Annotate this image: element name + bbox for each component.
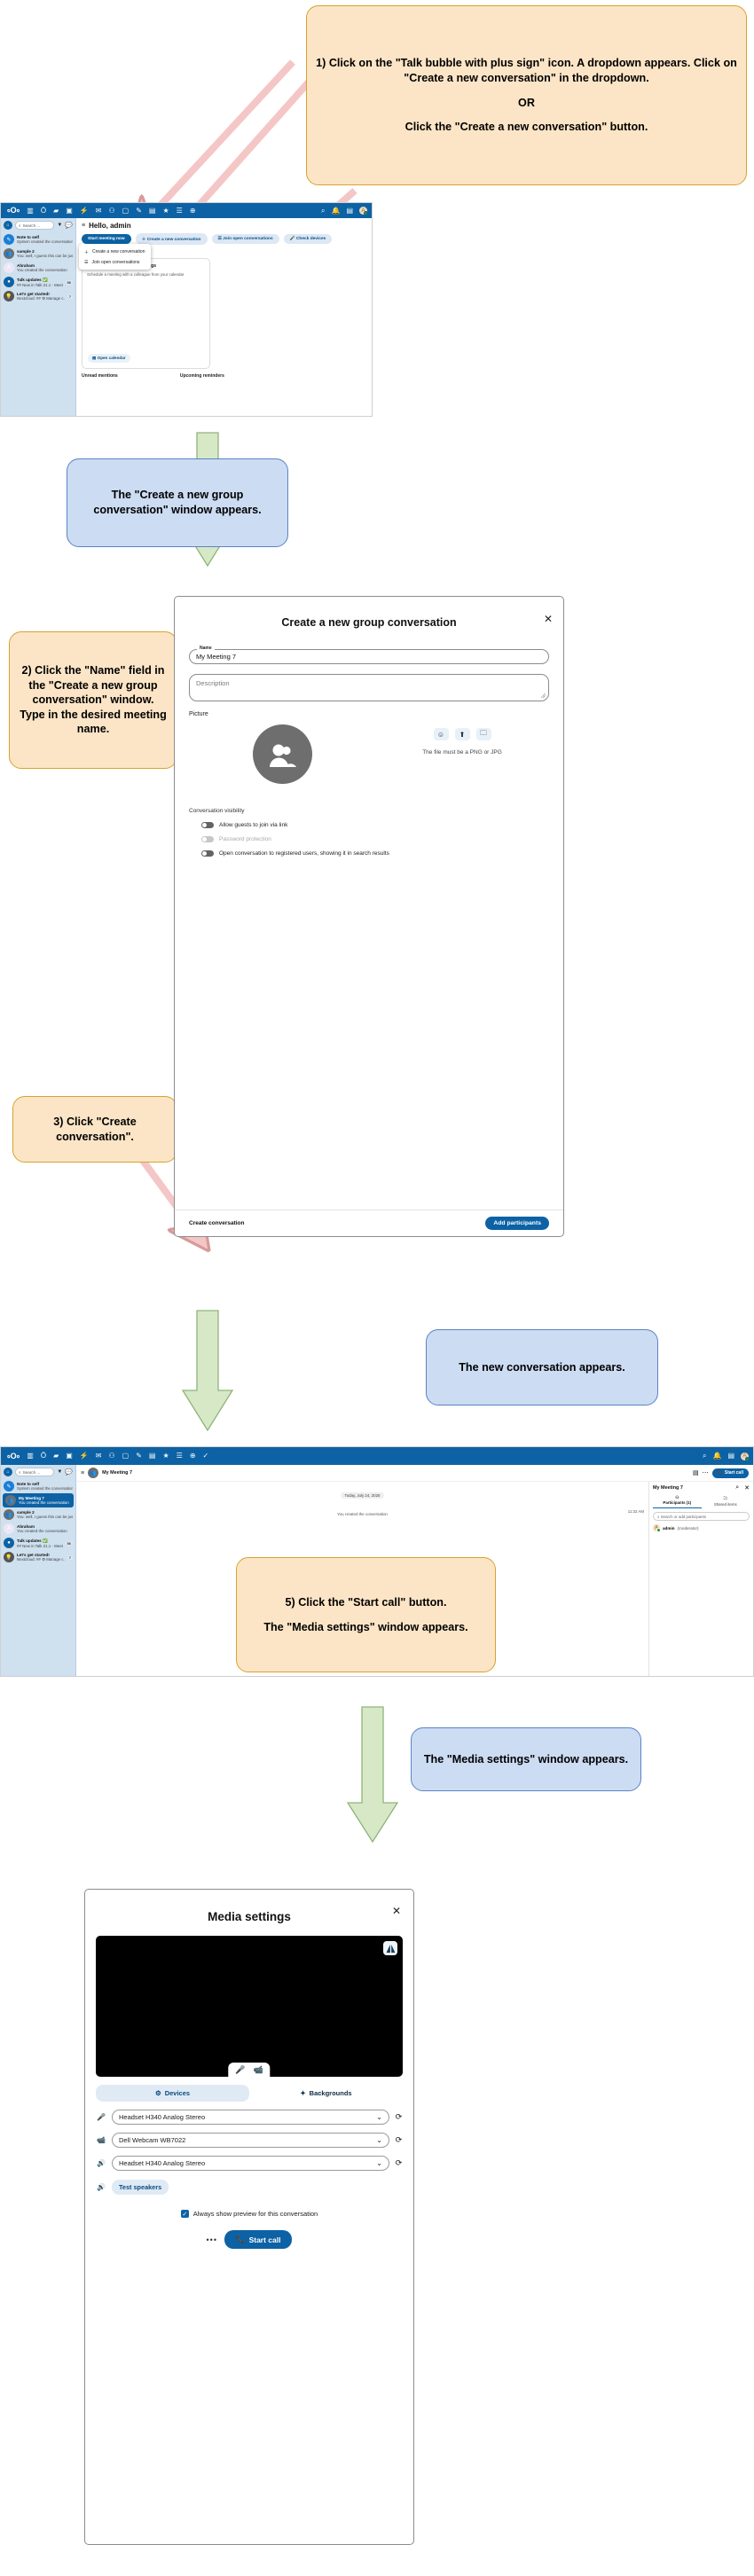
callout-step-1-line1: 1) Click on the "Talk bubble with plus s… [316,56,737,85]
conversation-subtitle: System created the conversation [17,1486,73,1491]
more-options-icon[interactable]: ••• [207,2235,217,2244]
conversation-text: AbrahamYou created the conversation [17,263,67,272]
dropdown-item-create-conversation[interactable]: ＋ Create a new conversation [79,247,151,257]
unread-badge: 7 [67,294,73,299]
description-field-wrapper: Description [189,674,549,701]
callout-step-3-text: 3) Click "Create conversation". [22,1115,168,1144]
conversation-list-item[interactable]: 💡Let's get started!Nextcloud: ## ⚙ Manag… [1,1550,75,1564]
dropdown-item-create-conversation-label: Create a new conversation [92,249,145,254]
conversation-avatar: A [4,262,14,273]
tab-backgrounds-label: Backgrounds [310,2089,352,2097]
calendar-icon[interactable]: ▢ [122,1452,130,1460]
conversation-avatar: 👥 [4,248,14,259]
device-select[interactable]: Headset H340 Analog Stereo⌄ [112,2156,389,2171]
tab-devices[interactable]: ⚙ Devices [96,2085,249,2102]
callout-step-1-or: OR [316,96,737,111]
talk-icon[interactable]: Ō [41,1452,46,1460]
test-speakers-row: 🔊 Test speakers [96,2180,403,2195]
search-icon: ⌕ [657,1515,659,1519]
conversation-avatar-icon: 👥 [88,1468,98,1478]
callout-step-2-text: 2) Click the "Name" field in the "Create… [19,663,168,737]
search-icon: ⌕ [19,223,21,228]
date-separator: Today, July 24, 2025 [341,1492,385,1499]
conversation-avatar: A [4,1523,14,1534]
refresh-icon[interactable]: ⟳ [395,2158,403,2168]
visibility-toggle-row[interactable]: Allow guests to join via link [201,822,549,828]
participant-avatar: A [653,1524,660,1531]
conversation-text: sample 2You: well, I guess this can be j… [17,1510,73,1519]
dialog-title: Create a new group conversation [175,616,563,629]
toggle-label: Open conversation to registered users, s… [219,850,389,857]
microphone-icon: 🎤 [96,2113,106,2121]
conversation-list-item[interactable]: ●Talk updates ✅## New in Talk 21.1 - Mee… [1,1536,75,1550]
picture-label: Picture [189,711,549,717]
system-message: You created the conversation [337,1512,388,1516]
conversation-list-item[interactable]: 💡Let's get started!Nextcloud: ## ⚙ Manag… [1,289,75,303]
toggle-label: Password protection [219,836,271,842]
conversation-subtitle: Nextcloud: ## ⚙ Manage c... [17,1557,65,1562]
folder-icon: 🗀 [702,1495,750,1502]
callout-step-3: 3) Click "Create conversation". [12,1096,177,1163]
media-settings-footer: ••• 📞 Start call [85,2230,413,2249]
visibility-toggle-row[interactable]: Password protection [201,836,549,842]
av-toggle-group: 🎤 📹 [228,2063,270,2078]
search-icon[interactable]: ⌕ [735,1484,739,1492]
conversation-list-item[interactable]: 👥sample 2You: well, I guess this can be … [1,247,75,261]
callout-step-1-line2: Click the "Create a new conversation" bu… [316,120,737,135]
conversation-text: Talk updates ✅## New in Talk 21.1 - Meet… [17,1539,63,1548]
device-select[interactable]: Dell Webcam WB7022⌄ [112,2133,389,2148]
picture-row: ☺ ⬆ 🗀 The file must be a PNG or JPG [189,724,549,784]
name-input[interactable]: My Meeting 7 [189,649,549,664]
upcoming-reminders-heading: Upcoming reminders [180,373,224,379]
unread-badge: 7 [67,1555,73,1560]
avatar[interactable]: A [359,207,367,215]
visibility-toggle-list: Allow guests to join via linkPassword pr… [175,822,563,857]
filter-icon[interactable]: ▼ [57,1469,62,1475]
create-group-conversation-dialog: Create a new group conversation ✕ Name M… [174,596,564,1237]
dropdown-item-join-open-conversations-label: Join open conversations [91,260,139,265]
conversation-avatar: ✎ [4,234,14,245]
conversation-subtitle: ## New in Talk 21.1 - Meeti... [17,1544,63,1548]
notifications-icon[interactable]: 🔔 [712,1452,721,1460]
flow-arrow-2 [181,1311,234,1435]
tasks-check-icon[interactable]: ✓ [203,1452,209,1460]
close-icon[interactable]: ✕ [744,1484,750,1492]
toggle-switch[interactable] [201,822,214,828]
notes-icon[interactable]: ✎ [136,207,142,215]
search-placeholder: Search ... [23,223,41,228]
speaker-icon: 🔊 [96,2183,106,2191]
gear-icon: ⚙ [155,2089,161,2097]
add-participants-button[interactable]: Add participants [485,1217,549,1230]
conversation-avatar: 💡 [4,1552,14,1562]
device-select-value: Dell Webcam WB7022 [119,2136,185,2144]
unread-mentions-heading: Unread mentions [82,373,118,379]
conversation-subtitle: ## New in Talk 21.1 - Meeti... [17,283,63,287]
nextcloud-top-bar-2: ∘O∘ ▥ Ō ▰ ▣ ⚡ ✉ ⚇ ▢ ✎ ▤ ★ ☰ ⊕ ✓ ⌕ 🔔 ▤ A [1,1447,753,1465]
favorites-icon[interactable]: ★ [162,207,169,215]
media-settings-tabs: ⚙ Devices ✦ Backgrounds [96,2085,403,2102]
conversation-avatar: 💡 [4,291,14,301]
calendar-icon[interactable]: ▤ [693,1469,699,1476]
activity-icon[interactable]: ⚡ [80,207,89,215]
new-conversation-dropdown: ＋ Create a new conversation ☰ Join open … [79,244,151,270]
refresh-icon[interactable]: ⟳ [395,2135,403,2145]
callout-step-5-line2: The "Media settings" window appears. [263,1620,467,1635]
chevron-down-icon: ⌄ [376,2136,382,2144]
plus-icon: ＋ [84,249,89,255]
search-input[interactable]: ⌕ Search ... [15,221,54,230]
collapse-sidebar-icon[interactable]: ≡ [82,223,85,229]
nextcloud-top-bar: ∘O∘ ▥ Ō ▰ ▣ ⚡ ✉ ⚇ ▢ ✎ ▤ ★ ☰ ⊕ ⌕ 🔔 ▤ A [1,203,372,218]
refresh-icon[interactable]: ⟳ [395,2112,403,2122]
close-icon[interactable]: ✕ [392,1905,401,1917]
nextcloud-logo-icon[interactable]: ∘O∘ [6,206,20,215]
speaker-icon: 🔊 [96,2159,106,2167]
calendar-icon: ▤ [92,356,96,360]
device-row: 🔊Headset H340 Analog Stereo⌄⟳ [96,2156,403,2171]
contacts-menu-icon[interactable]: ▤ [346,207,353,215]
conversation-list: ✎Note to selfSystem created the conversa… [1,232,75,303]
unread-badge: 56 [66,280,73,285]
deck-icon[interactable]: ▤ [149,1452,156,1460]
conversation-list-item[interactable]: 👥My Meeting 7You created the conversatio… [3,1493,74,1507]
favorites-icon[interactable]: ★ [162,1452,169,1460]
card-text: Schedule a meeting with a colleague from… [87,272,205,278]
start-call-button[interactable]: 📞 Start call [712,1468,749,1478]
participant-name: admin [663,1526,675,1531]
unread-badge: 56 [66,1541,73,1546]
photos-icon[interactable]: ▣ [66,207,73,215]
conversation-text: Note to selfSystem created the conversat… [17,235,73,244]
description-textarea[interactable]: Description [189,674,549,701]
always-show-preview-label: Always show preview for this conversatio… [193,2210,318,2218]
conversation-list-item[interactable]: ✎Note to selfSystem created the conversa… [1,232,75,247]
more-options-icon[interactable]: ⋯ [703,1469,709,1476]
always-show-preview-row[interactable]: ✓ Always show preview for this conversat… [85,2210,413,2218]
conversation-text: Talk updates ✅## New in Talk 21.1 - Meet… [17,278,63,287]
mail-icon[interactable]: ✉ [96,1452,102,1460]
callout-step-5: 5) Click the "Start call" button. The "M… [236,1557,496,1672]
conversation-subtitle: You created the conversation [19,1500,69,1505]
notifications-icon[interactable]: 🔔 [331,207,340,215]
conversation-text: AbrahamYou created the conversation [17,1524,67,1533]
conversation-sidebar: ⌂ ⌕ Search ... ▼ 💬 ✎Note to selfSystem c… [1,218,76,416]
conversation-subtitle: System created the conversation [17,239,73,244]
conversation-avatar: ● [4,277,14,287]
device-select[interactable]: Headset H340 Analog Stereo⌄ [112,2110,389,2125]
upload-icon[interactable]: ⬆ [455,728,470,740]
talk-icon[interactable]: Ō [41,207,46,215]
notes-icon[interactable]: ✎ [136,1452,142,1460]
files-icon[interactable]: ▰ [53,207,59,215]
callout-step-5-line1: 5) Click the "Start call" button. [263,1595,467,1610]
start-call-button[interactable]: 📞 Start call [224,2230,293,2249]
conversation-visibility-heading: Conversation visibility [189,808,563,814]
name-field-wrapper: Name My Meeting 7 [189,649,549,664]
maps-icon[interactable]: ⊕ [190,207,196,215]
conversation-avatar: 👥 [5,1495,16,1506]
start-call-label: Start call [725,1470,743,1476]
conversation-list-item[interactable]: ●Talk updates ✅## New in Talk 21.1 - Mee… [1,275,75,289]
tab-backgrounds[interactable]: ✦ Backgrounds [249,2085,403,2102]
dashboard-icon[interactable]: ▥ [27,207,34,215]
dialog-footer: Create conversation Add participants [175,1210,563,1236]
conversation-text: Let's get started!Nextcloud: ## ⚙ Manage… [17,1553,65,1562]
conversation-avatar: ● [4,1538,14,1548]
files-icon[interactable]: ▰ [53,1452,59,1460]
visibility-toggle-row[interactable]: Open conversation to registered users, s… [201,850,549,857]
callout-note-new-conversation: The new conversation appears. [426,1329,658,1405]
conversation-text: Let's get started!Nextcloud: ## ⚙ Manage… [17,292,65,301]
group-avatar-icon [267,742,297,767]
home-icon[interactable]: ⌂ [4,1468,12,1476]
sparkle-icon: ✦ [300,2089,305,2097]
chevron-down-icon: ⌄ [376,2113,382,2121]
avatar[interactable]: A [741,1452,749,1460]
toggle-label: Allow guests to join via link [219,822,287,828]
participant-search-input[interactable]: ⌕ Search or add participants [653,1512,750,1521]
conversation-sidebar-2: ⌂ ⌕ Search ... ▼ 💬 ✎Note to selfSystem c… [1,1465,76,1676]
conversation-avatar: ✎ [4,1481,14,1492]
conversation-subtitle: Nextcloud: ## ⚙ Manage c... [17,296,65,301]
search-icon[interactable]: ⌕ [321,207,325,215]
search-icon: ⌕ [19,1470,21,1475]
dashboard-icon[interactable]: ▥ [27,1452,34,1460]
dialog-title: Media settings [85,1910,413,1923]
collapse-sidebar-icon[interactable]: ≡ [81,1470,84,1476]
contacts-icon[interactable]: ⚇ [108,1452,114,1460]
dashboard-button[interactable]: ☰ Join open conversations [212,234,279,244]
conversation-avatar: 👥 [4,1509,14,1520]
open-calendar-label: Open calendar [98,356,126,360]
toggle-switch[interactable] [201,850,214,857]
panel-title: My Meeting 7 [653,1485,683,1491]
name-field-label: Name [197,646,215,651]
create-conversation-button[interactable]: Create conversation [189,1220,245,1226]
dashboard-button[interactable]: 🎤 Check devices [284,234,333,244]
callout-note-media-settings: The "Media settings" window appears. [411,1727,641,1791]
camera-icon: 📹 [96,2136,106,2144]
start-call-label: Start call [249,2235,281,2244]
callout-note-new-conversation-text: The new conversation appears. [459,1360,625,1375]
toggle-switch[interactable] [201,836,214,842]
camera-preview: 🎤 📹 [96,1936,403,2077]
nextcloud-logo-icon[interactable]: ∘O∘ [6,1452,20,1461]
open-calendar-button[interactable]: ▤ Open calendar [88,354,130,363]
callout-note-media-settings-text: The "Media settings" window appears. [424,1752,628,1767]
chat-title: My Meeting 7 [102,1470,132,1476]
contacts-menu-icon[interactable]: ▤ [727,1452,734,1460]
callout-note-group-window: The "Create a new group conversation" wi… [67,458,288,547]
conversation-subtitle: You: well, I guess this can be jus... [17,254,73,258]
talk-bubble-plus-icon[interactable]: 💬 [65,1468,73,1476]
chat-header: ≡ 👥 My Meeting 7 ▤ ⋯ 📞 Start call [76,1465,753,1482]
filter-icon[interactable]: ▼ [57,223,62,228]
deck-icon[interactable]: ▤ [149,207,156,215]
photos-icon[interactable]: ▣ [66,1452,73,1460]
sidebar-search-row-2: ⌂ ⌕ Search ... ▼ 💬 [1,1465,75,1479]
flow-arrow-3 [346,1707,399,1849]
conversation-subtitle: You: well, I guess this can be jus... [17,1515,73,1519]
talk-bubble-plus-icon[interactable]: 💬 [65,222,73,229]
test-speakers-button[interactable]: Test speakers [112,2180,169,2195]
tab-shared-items[interactable]: 🗀 Shared items [702,1495,750,1508]
sidebar-search-row: ⌂ ⌕ Search ... ▼ 💬 [1,218,75,232]
tasks-icon[interactable]: ☰ [177,207,183,215]
greeting: Hello, admin [89,222,131,230]
phone-icon: 📞 [718,1470,723,1476]
conversation-text: sample 2You: well, I guess this can be j… [17,249,73,258]
conversation-list-item[interactable]: AAbrahamYou created the conversation [1,1522,75,1536]
contacts-icon[interactable]: ⚇ [108,207,114,215]
activity-icon[interactable]: ⚡ [80,1452,89,1460]
device-row: 🎤Headset H340 Analog Stereo⌄⟳ [96,2110,403,2125]
tasks-icon[interactable]: ☰ [177,1452,183,1460]
device-select-value: Headset H340 Analog Stereo [119,2159,205,2167]
nextcloud-talk-dashboard-screenshot: ∘O∘ ▥ Ō ▰ ▣ ⚡ ✉ ⚇ ▢ ✎ ▤ ★ ☰ ⊕ ⌕ 🔔 ▤ A ⌂ … [0,202,373,417]
tab-shared-items-label: Shared items [702,1502,750,1507]
mirror-flip-icon[interactable] [383,1941,397,1955]
picture-action-buttons: ☺ ⬆ 🗀 [375,728,549,740]
participant-search-placeholder: Search or add participants [661,1515,706,1519]
close-icon[interactable]: ✕ [544,613,553,625]
conversation-details-panel: My Meeting 7 ⌕ ✕ ⚇ Participants (1) 🗀 [648,1482,753,1676]
upcoming-meetings-card: You have no upcoming meetings Schedule a… [82,258,210,369]
device-row: 📹Dell Webcam WB7022⌄⟳ [96,2133,403,2148]
conversation-text: Note to selfSystem created the conversat… [17,1482,73,1491]
mirror-flip-glyph [386,1944,396,1954]
folder-icon[interactable]: 🗀 [476,728,491,740]
search-icon[interactable]: ⌕ [703,1452,706,1460]
device-select-value: Headset H340 Analog Stereo [119,2113,205,2121]
search-input[interactable]: ⌕ Search ... [15,1468,54,1476]
callout-note-group-window-text: The "Create a new group conversation" wi… [76,488,279,517]
dropdown-item-join-open-conversations[interactable]: ☰ Join open conversations [79,257,151,267]
conversation-text: My Meeting 7You created the conversation [19,1496,69,1505]
tab-participants-label: Participants (1) [653,1500,702,1505]
emoji-icon[interactable]: ☺ [434,728,449,740]
conversation-list-item[interactable]: 👥sample 2You: well, I guess this can be … [1,1507,75,1522]
microphone-icon[interactable]: 🎤 [235,2065,245,2075]
participant-role: (moderator) [678,1526,699,1531]
conversation-list-item[interactable]: AAbrahamYou created the conversation [1,261,75,275]
tab-devices-label: Devices [165,2089,190,2097]
maps-icon[interactable]: ⊕ [190,1452,196,1460]
home-icon[interactable]: ⌂ [4,221,12,230]
calendar-icon[interactable]: ▢ [122,207,130,215]
callout-step-2: 2) Click the "Name" field in the "Create… [9,631,177,769]
mail-icon[interactable]: ✉ [96,207,102,215]
device-selector-list: 🎤Headset H340 Analog Stereo⌄⟳📹Dell Webca… [85,2110,413,2171]
phone-icon: 📞 [236,2235,246,2244]
participant-row[interactable]: A admin (moderator) [653,1524,750,1531]
always-show-preview-checkbox[interactable]: ✓ [181,2210,189,2218]
conversation-avatar-placeholder[interactable] [253,724,312,784]
camera-icon[interactable]: 📹 [254,2065,263,2075]
media-settings-dialog: Media settings ✕ 🎤 📹 ⚙ Devices ✦ Backgro… [84,1889,414,2545]
file-type-hint: The file must be a PNG or JPG [375,749,549,756]
conversation-list-item[interactable]: ✎Note to selfSystem created the conversa… [1,1479,75,1493]
tab-participants[interactable]: ⚇ Participants (1) [653,1495,702,1508]
callout-step-1: 1) Click on the "Talk bubble with plus s… [306,5,747,185]
message-timestamp: 11:32 AM [628,1509,644,1514]
dashboard-button[interactable]: Start meeting now [82,234,131,244]
list-icon: ☰ [84,260,88,265]
conversation-subtitle: You created the conversation [17,268,67,272]
conversation-subtitle: You created the conversation [17,1529,67,1533]
search-placeholder: Search ... [23,1470,41,1475]
conversation-list: ✎Note to selfSystem created the conversa… [1,1479,75,1564]
chevron-down-icon: ⌄ [376,2159,382,2167]
